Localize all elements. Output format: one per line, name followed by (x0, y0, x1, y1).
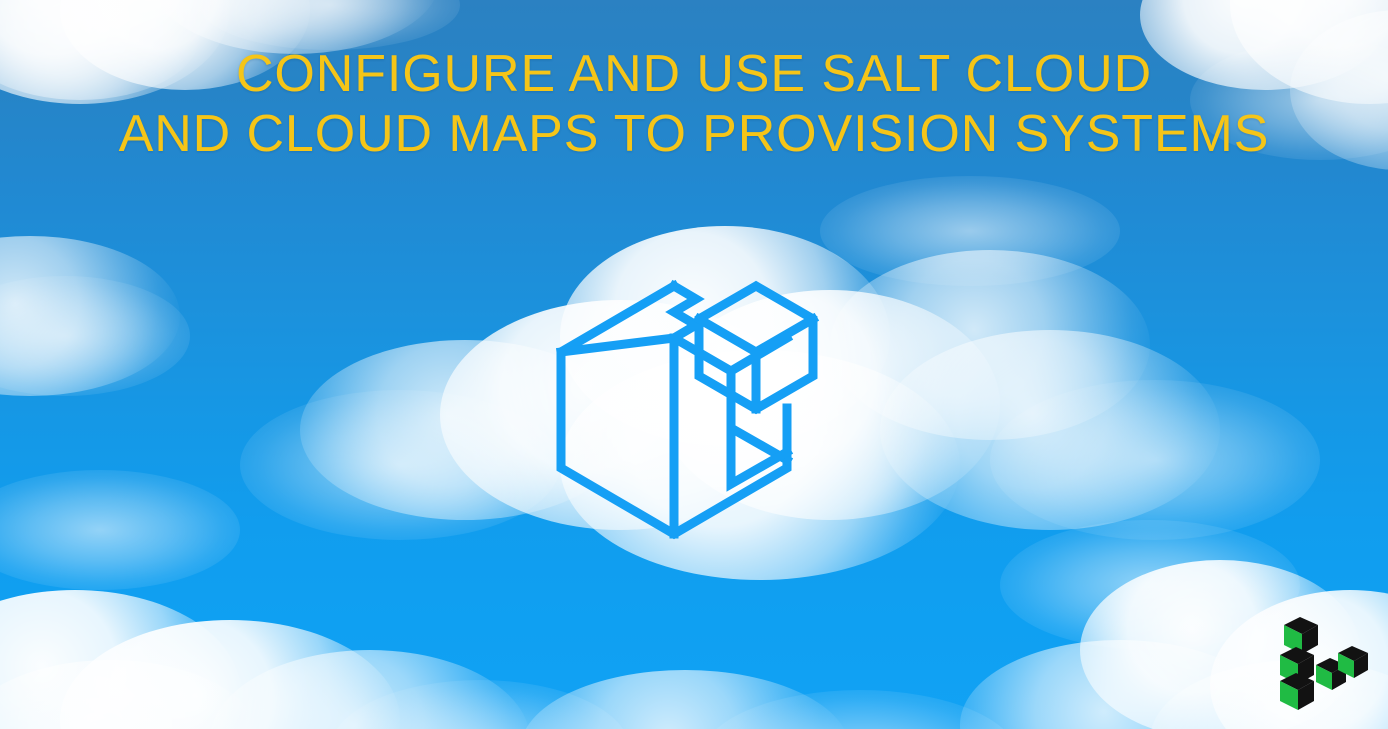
cloud-bottom-left-d (0, 660, 260, 729)
cloud-bottom-left-b (60, 620, 400, 729)
cloud-bottom-center-b (700, 690, 1020, 729)
slide-canvas: CONFIGURE AND USE SALT CLOUD AND CLOUD M… (0, 0, 1388, 729)
saltstack-cube-bottom-left (1280, 673, 1314, 710)
cloud-bottom-center-a (520, 670, 850, 729)
cloud-wisp-left-low (0, 470, 240, 590)
title-line-1: CONFIGURE AND USE SALT CLOUD (0, 44, 1388, 104)
cloud-bottom-left-a (0, 590, 240, 729)
cloud-left-mid-b (0, 276, 190, 396)
title-line-2: AND CLOUD MAPS TO PROVISION SYSTEMS (0, 104, 1388, 164)
emblem-small-cube-top (699, 319, 813, 352)
saltstack-logo (1274, 611, 1370, 711)
cloud-center-i (990, 380, 1320, 540)
page-title: CONFIGURE AND USE SALT CLOUD AND CLOUD M… (0, 44, 1388, 164)
cloud-left-mid-a (0, 236, 180, 396)
cloud-bottom-left-e (330, 680, 630, 729)
cloud-bottom-left-c (210, 650, 530, 729)
cloud-center-f (830, 250, 1150, 440)
cloud-top-left-e (200, 0, 460, 50)
cloud-bottom-right-c (960, 640, 1280, 729)
cloud-bottom-right-e (1000, 520, 1300, 650)
saltstack-cube-top (1284, 617, 1318, 654)
cloud-cube-emblem (556, 268, 836, 550)
cloud-center-g (880, 330, 1220, 530)
cloud-wisp-upper-mid (820, 176, 1120, 286)
cloud-center-h (240, 390, 560, 540)
